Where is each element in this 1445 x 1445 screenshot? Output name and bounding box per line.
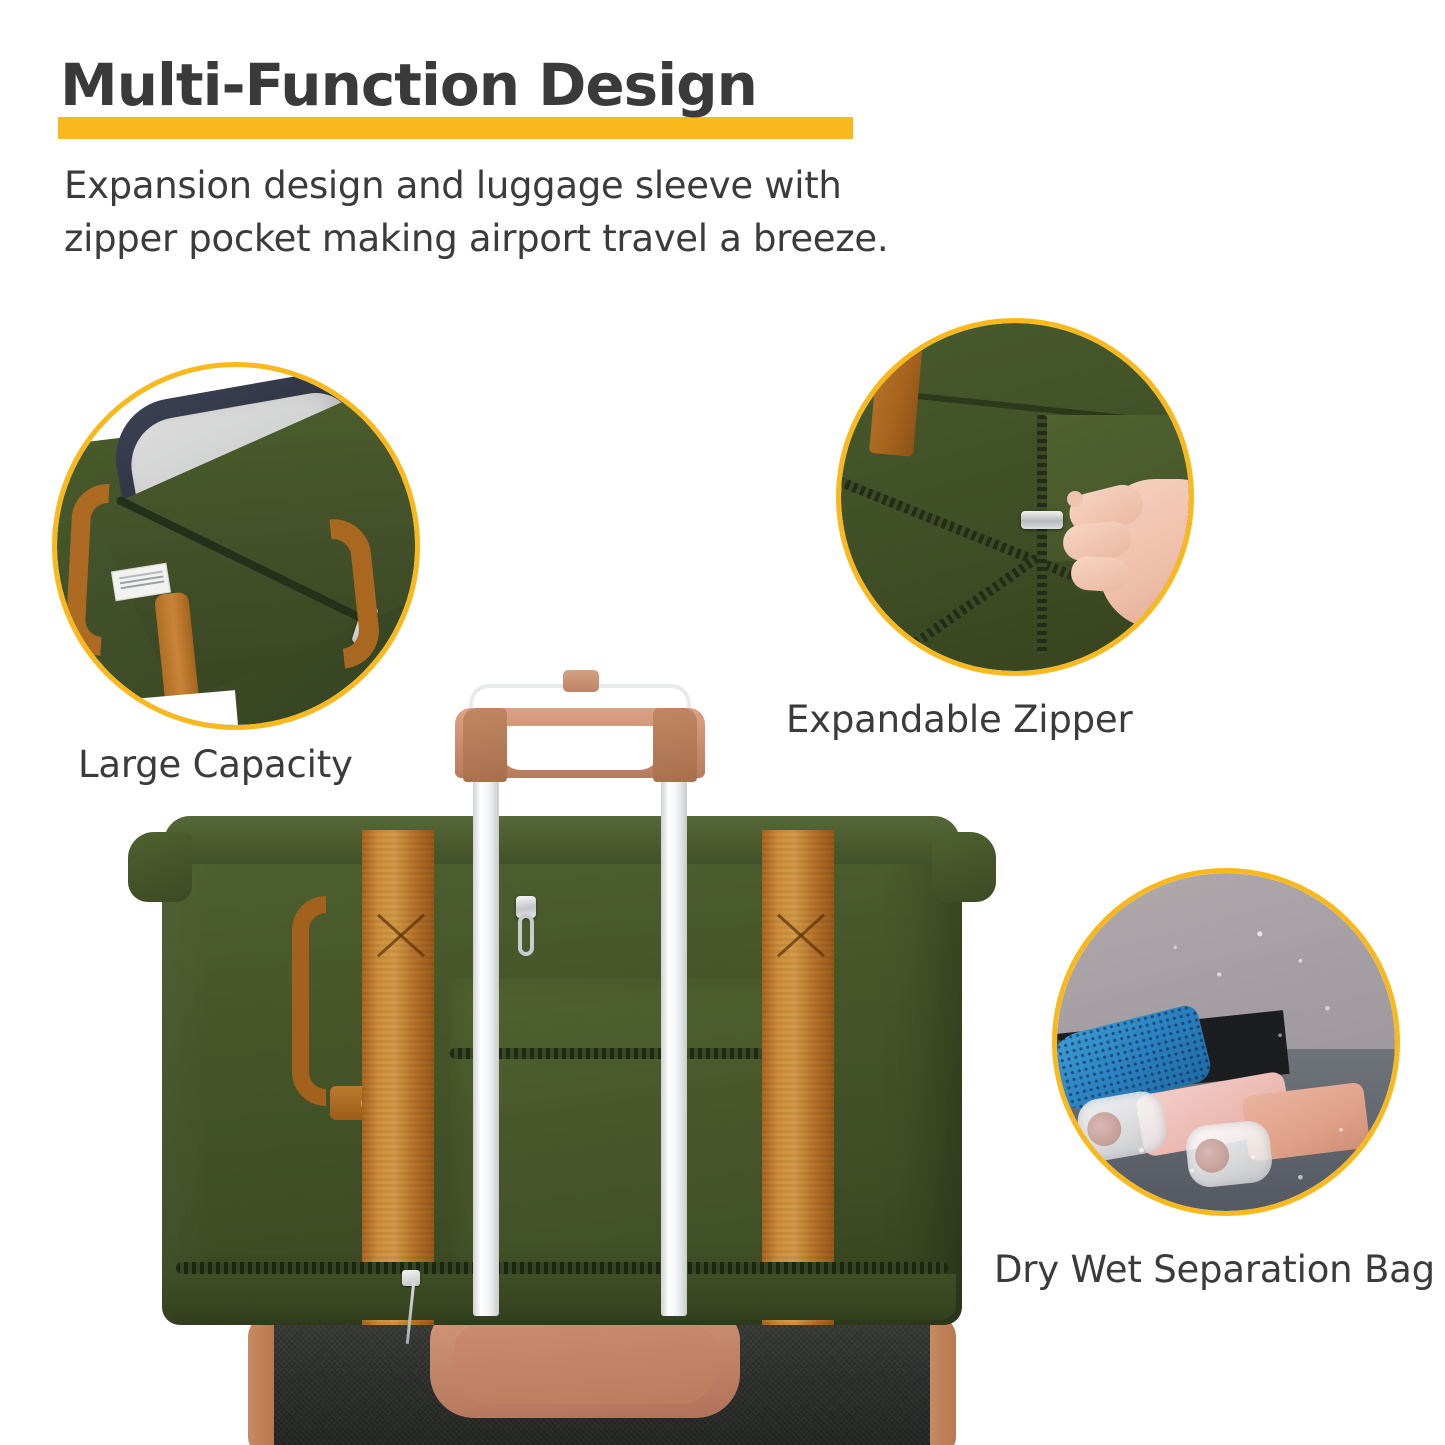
handle-grip-cutout	[499, 726, 661, 770]
duffel-right-corner	[932, 832, 996, 902]
side-handle-left	[292, 896, 326, 1106]
suitcase-right-trim	[930, 1316, 956, 1445]
expansion-zipper-slider	[1021, 511, 1063, 529]
expandable-zipper-image	[841, 323, 1189, 671]
handle-cuff-left	[463, 708, 507, 782]
infographic-page: Multi-Function Design Expansion design a…	[0, 0, 1445, 1445]
vertical-zipper	[1037, 415, 1047, 655]
hand-pulling-zipper	[1059, 453, 1189, 653]
large-capacity-image	[57, 367, 415, 725]
callout-label-large-capacity: Large Capacity	[78, 743, 353, 786]
x-box-stitch-left	[370, 908, 426, 964]
telescoping-handle	[455, 660, 705, 1320]
duffel-left-corner	[128, 832, 192, 902]
dry-wet-separation-circle-photo	[1052, 868, 1400, 1216]
callout-label-dry-wet-separation: Dry Wet Separation Bag	[994, 1248, 1435, 1291]
suitcase-left-trim	[248, 1316, 274, 1445]
handle-cuff-right	[653, 708, 697, 782]
callout-label-expandable-zipper: Expandable Zipper	[786, 698, 1133, 741]
page-title: Multi-Function Design	[58, 55, 763, 116]
water-droplets	[1057, 873, 1395, 1211]
expandable-zipper-circle-photo	[836, 318, 1194, 676]
header-block: Multi-Function Design	[58, 55, 763, 116]
suitcase-handle-base	[430, 1310, 740, 1418]
dry-wet-separation-image	[1057, 873, 1395, 1211]
title-highlight-bar	[58, 117, 853, 139]
suitcase-body	[252, 1310, 952, 1445]
carry-strap-right	[762, 830, 834, 1325]
large-capacity-circle-photo	[52, 362, 420, 730]
hand-finger-ring	[1070, 555, 1130, 593]
bottom-zipper-pull	[402, 1270, 420, 1342]
handle-release-button	[563, 670, 599, 692]
carry-strap-left	[362, 830, 434, 1325]
handle-pole-right	[661, 756, 687, 1316]
handle-pole-left	[473, 756, 499, 1316]
x-box-stitch-right	[770, 908, 826, 964]
bottom-zipper-wire	[406, 1282, 415, 1344]
page-subtitle: Expansion design and luggage sleeve with…	[64, 160, 888, 265]
hand-thumb	[1067, 491, 1083, 507]
